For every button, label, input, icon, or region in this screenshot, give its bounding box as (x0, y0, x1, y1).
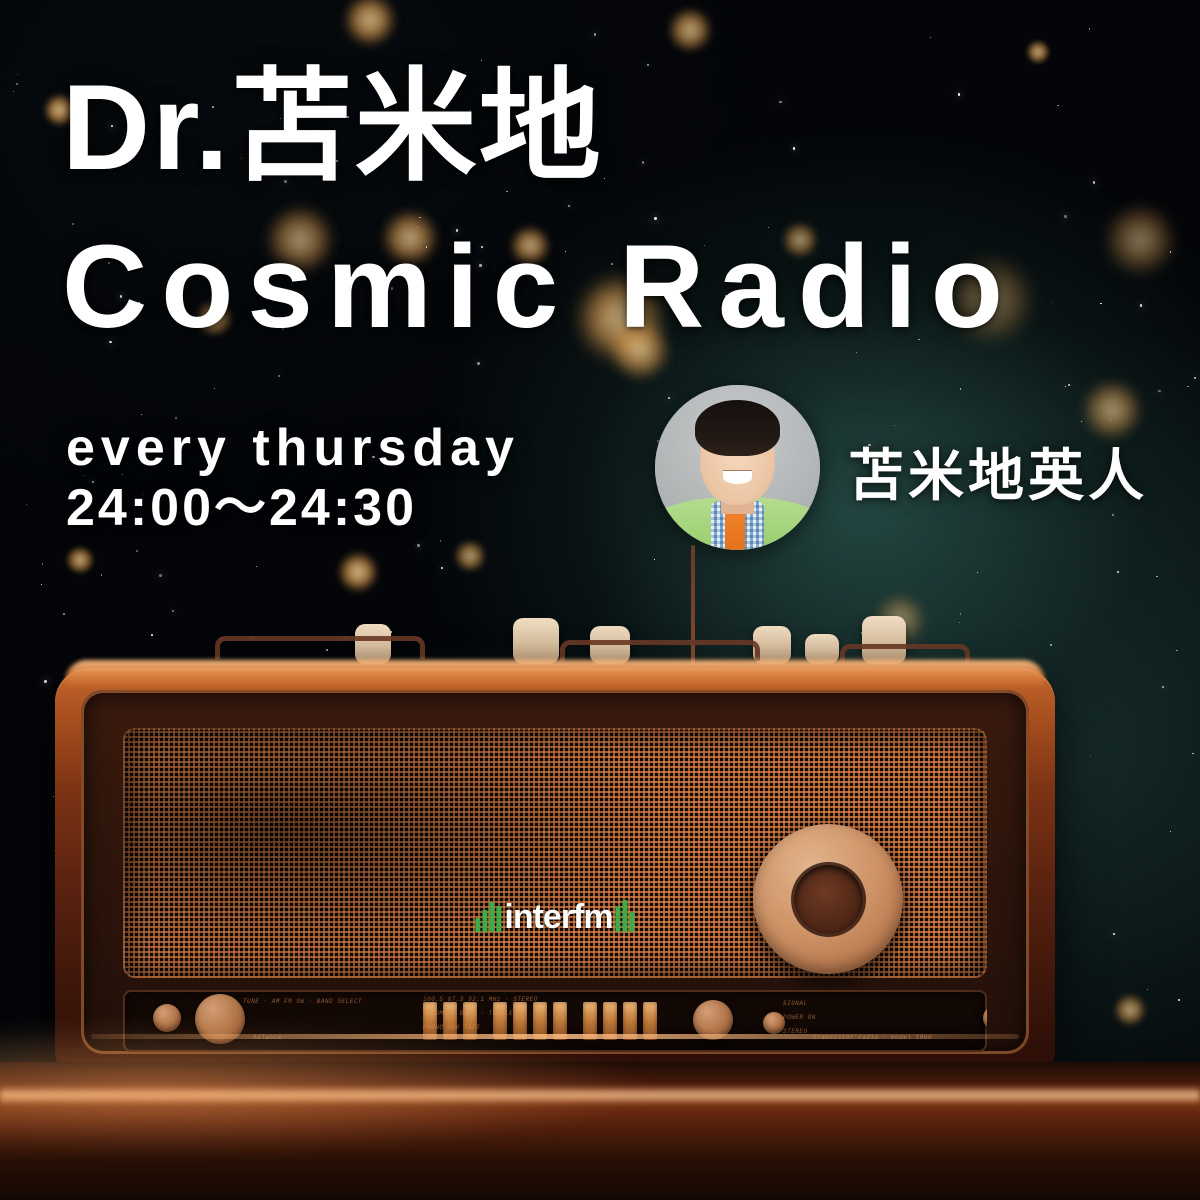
panel-legend: POWER ON (783, 1014, 816, 1021)
host-portrait-avatar (655, 385, 820, 550)
logo-bar (616, 906, 621, 932)
panel-legend: SIGNAL (783, 1000, 808, 1007)
page-title-line2: Cosmic Radio (62, 228, 1017, 346)
logo-bar (482, 910, 487, 932)
cabinet-top-highlight (65, 660, 1045, 688)
tuner-knob-icon[interactable] (753, 824, 903, 974)
interfm-logo: interfm (475, 898, 634, 932)
panel-legend: TUNE · AM FM SW · BAND SELECT (243, 998, 362, 1005)
panel-legend: VOLUME · BASS · TREBLE (423, 1010, 513, 1017)
logo-bar (630, 912, 635, 932)
wire-arc (215, 636, 425, 659)
interfm-wordmark: interfm (504, 902, 612, 932)
table-warm-glow (0, 1022, 660, 1152)
table-surface (0, 1062, 1200, 1200)
control-dial[interactable] (983, 1006, 987, 1030)
top-button[interactable] (513, 618, 559, 664)
schedule-day: every thursday (66, 418, 520, 479)
logo-bar (496, 906, 501, 932)
cabinet-inner-bezel: interfm TUNE · AM FM SW · BAND SELECT100… (81, 690, 1029, 1054)
logo-bar (623, 900, 628, 932)
panel-legend: 100.5 87.9 92.1 MHz · STEREO (423, 996, 538, 1003)
logo-bar (475, 918, 480, 932)
page-title-line1: Dr.苫米地 (62, 66, 603, 188)
host-name: 苫米地英人 (848, 448, 1148, 504)
schedule-time: 24:00〜24:30 (66, 478, 417, 539)
control-dial[interactable] (763, 1012, 785, 1034)
vintage-radio: interfm TUNE · AM FM SW · BAND SELECT100… (55, 668, 1055, 1068)
radio-program-poster: Dr.苫米地 Cosmic Radio every thursday 24:00… (0, 0, 1200, 1200)
speaker-grille-icon: interfm (123, 728, 987, 978)
logo-bar (489, 902, 494, 932)
logo-bars-right (616, 898, 635, 932)
logo-bars-left (475, 898, 501, 932)
wire-arc (560, 640, 760, 661)
